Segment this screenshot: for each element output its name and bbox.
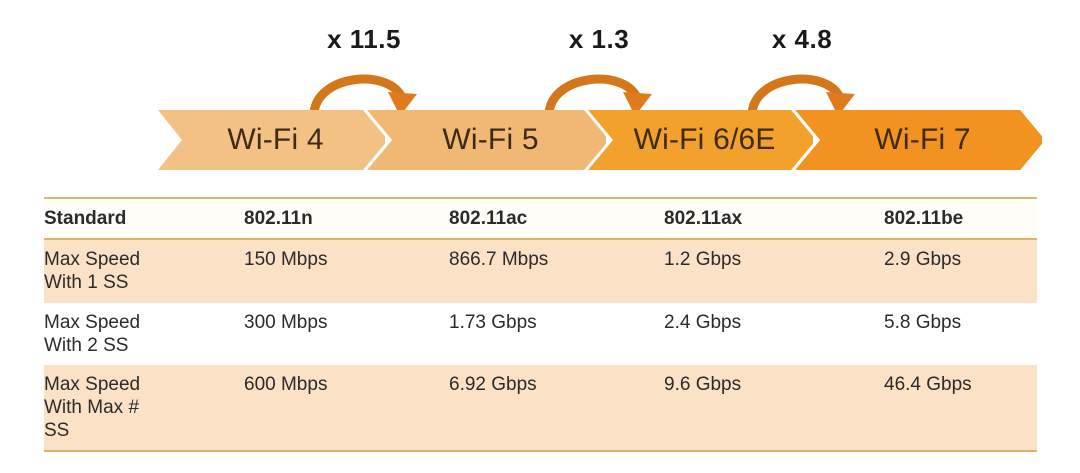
table-header-row: Standard 802.11n 802.11ac 802.11ax 802.1… (44, 198, 1037, 239)
cell-2ss-802-11ax: 2.4 Gbps (664, 303, 884, 365)
multiplier-group-3: x 4.8 (742, 8, 862, 118)
cell-2ss-802-11be: 5.8 Gbps (884, 303, 1037, 365)
row-label-1ss: Max Speed With 1 SS (44, 239, 244, 302)
cell-maxss-802-11n: 600 Mbps (244, 365, 449, 452)
banner-segment-wifi4[interactable]: Wi-Fi 4 (158, 110, 385, 170)
table-row: Max Speed With 1 SS 150 Mbps 866.7 Mbps … (44, 239, 1037, 302)
banner-segment-wifi5[interactable]: Wi-Fi 5 (367, 110, 606, 170)
multiplier-group-1: x 11.5 (304, 8, 424, 118)
multiplier-label-1: x 11.5 (304, 24, 424, 55)
curved-arrow-icon (539, 56, 659, 118)
cell-maxss-802-11ac: 6.92 Gbps (449, 365, 664, 452)
header-802-11be: 802.11be (884, 198, 1037, 239)
header-802-11ac: 802.11ac (449, 198, 664, 239)
cell-2ss-802-11ac: 1.73 Gbps (449, 303, 664, 365)
row-label-maxss: Max Speed With Max # SS (44, 365, 244, 452)
banner-segment-label: Wi-Fi 5 (442, 123, 538, 157)
cell-2ss-802-11n: 300 Mbps (244, 303, 449, 365)
banner-segment-label: Wi-Fi 4 (227, 123, 323, 157)
header-standard: Standard (44, 198, 244, 239)
wifi-speed-table: Standard 802.11n 802.11ac 802.11ax 802.1… (44, 197, 1037, 452)
banner-segment-label: Wi-Fi 7 (874, 123, 970, 157)
curved-arrow-icon (742, 56, 862, 118)
cell-maxss-802-11be: 46.4 Gbps (884, 365, 1037, 452)
header-802-11n: 802.11n (244, 198, 449, 239)
multiplier-group-2: x 1.3 (539, 8, 659, 118)
cell-1ss-802-11be: 2.9 Gbps (884, 239, 1037, 302)
banner-segment-wifi7[interactable]: Wi-Fi 7 (795, 110, 1042, 170)
row-label-2ss: Max Speed With 2 SS (44, 303, 244, 365)
table-row: Max Speed With Max # SS 600 Mbps 6.92 Gb… (44, 365, 1037, 452)
cell-1ss-802-11ax: 1.2 Gbps (664, 239, 884, 302)
table-row: Max Speed With 2 SS 300 Mbps 1.73 Gbps 2… (44, 303, 1037, 365)
multiplier-label-2: x 1.3 (539, 24, 659, 55)
cell-1ss-802-11n: 150 Mbps (244, 239, 449, 302)
banner-segment-wifi6-6e[interactable]: Wi-Fi 6/6E (588, 110, 813, 170)
wifi-speed-table-container: Standard 802.11n 802.11ac 802.11ax 802.1… (44, 197, 1037, 452)
cell-1ss-802-11ac: 866.7 Mbps (449, 239, 664, 302)
cell-maxss-802-11ax: 9.6 Gbps (664, 365, 884, 452)
table-body: Max Speed With 1 SS 150 Mbps 866.7 Mbps … (44, 239, 1037, 451)
header-802-11ax: 802.11ax (664, 198, 884, 239)
wifi-generation-banner: Wi-Fi 4 Wi-Fi 5 Wi-Fi 6/6E Wi-Fi 7 (158, 110, 1042, 170)
banner-segment-label: Wi-Fi 6/6E (634, 123, 776, 157)
table-head: Standard 802.11n 802.11ac 802.11ax 802.1… (44, 198, 1037, 239)
curved-arrow-icon (304, 56, 424, 118)
multiplier-label-3: x 4.8 (742, 24, 862, 55)
